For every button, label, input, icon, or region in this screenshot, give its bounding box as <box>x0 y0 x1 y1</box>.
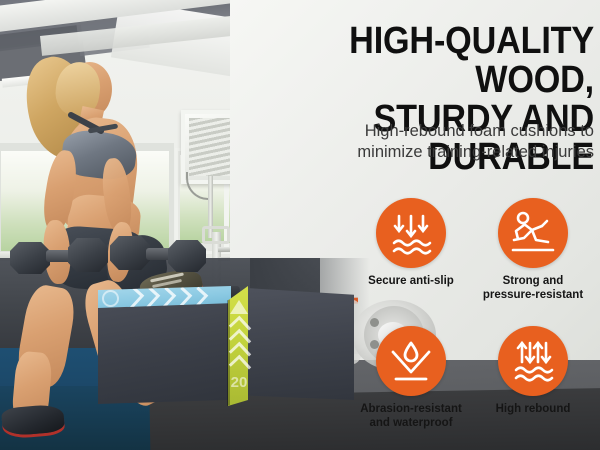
down-arrows-over-waves-icon <box>376 198 446 268</box>
subtitle-line-2: minimize training-related injuries <box>236 142 594 163</box>
subtitle: High-rebound foam cushions to minimize t… <box>236 121 594 163</box>
dumbbell-head <box>168 240 206 272</box>
athlete-rear-shoe <box>1 403 65 436</box>
feature-label: Secure anti-slip <box>348 274 474 288</box>
slipping-person-icon <box>498 198 568 268</box>
plyo-box: 20 <box>98 286 303 411</box>
up-down-arrows-over-waves-icon <box>498 326 568 396</box>
feature-list: Secure anti-slip Strong and <box>348 198 600 448</box>
plyo-box-logo-icon <box>102 290 119 307</box>
dumbbell-head <box>68 238 108 272</box>
arrow-up-icon <box>230 300 248 314</box>
plyo-box-side-panel <box>246 288 354 400</box>
feature-label-line-1: Strong and <box>503 275 564 287</box>
subtitle-line-1: High-rebound foam cushions to <box>236 121 594 142</box>
feature-label: Abrasion-resistant and waterproof <box>348 402 474 430</box>
headline-line-1: HIGH-QUALITY WOOD, <box>349 20 594 101</box>
feature-high-rebound: High rebound <box>470 326 596 416</box>
feature-label-line-1: Abrasion-resistant <box>360 403 462 415</box>
water-droplet-shield-icon <box>376 326 446 396</box>
feature-label-line-2: and waterproof <box>369 417 452 429</box>
feature-secure-anti-slip: Secure anti-slip <box>348 198 474 288</box>
plyo-box-front-panel <box>98 300 230 404</box>
plyo-box-height-number: 20 <box>228 374 250 391</box>
feature-label: Strong and pressure-resistant <box>470 274 596 302</box>
dumbbell-head <box>10 242 50 274</box>
feature-pressure-resistant: Strong and pressure-resistant <box>470 198 596 302</box>
promo-banner: 20 HIGH-QUALITY WOOD, STURDY AND DURABLE… <box>0 0 600 450</box>
feature-label-line-2: pressure-resistant <box>483 289 583 301</box>
feature-label: High rebound <box>470 402 596 416</box>
dumbbell-head <box>110 236 150 270</box>
feature-abrasion-waterproof: Abrasion-resistant and waterproof <box>348 326 474 430</box>
